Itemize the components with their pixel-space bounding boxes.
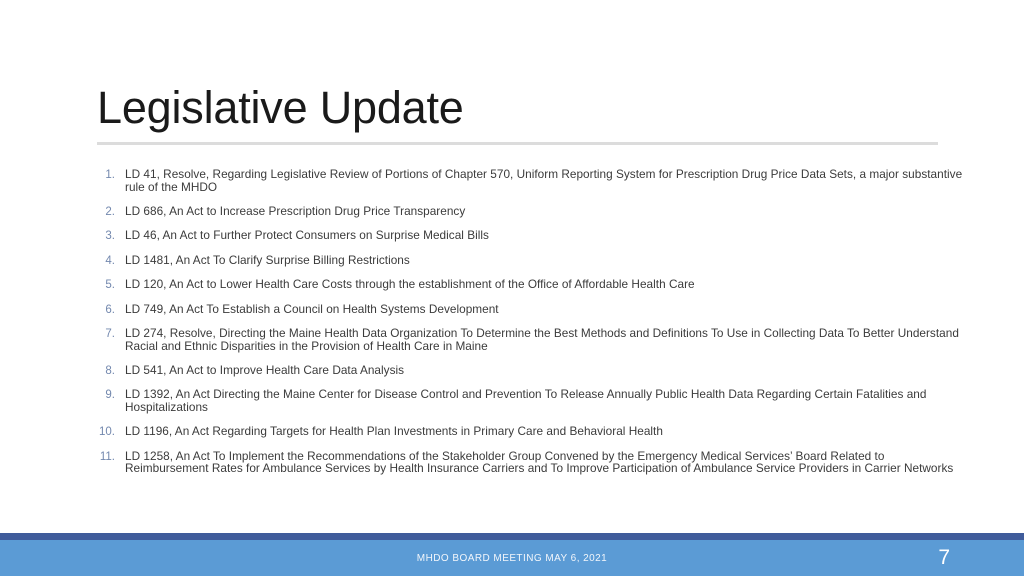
list-item-text: LD 749, An Act To Establish a Council on… (125, 303, 965, 316)
title-divider (97, 142, 938, 145)
list-item: 5. LD 120, An Act to Lower Health Care C… (85, 278, 965, 291)
list-item-text: LD 274, Resolve, Directing the Maine Hea… (125, 327, 965, 352)
list-item-text: LD 120, An Act to Lower Health Care Cost… (125, 278, 965, 291)
list-item-text: LD 1481, An Act To Clarify Surprise Bill… (125, 254, 965, 267)
list-item-number: 2. (85, 205, 115, 218)
list-item-text: LD 1258, An Act To Implement the Recomme… (125, 450, 965, 475)
title-block: Legislative Update (97, 80, 939, 145)
legislation-list: 1. LD 41, Resolve, Regarding Legislative… (85, 168, 965, 486)
list-item-number: 4. (85, 254, 115, 267)
list-item-text: LD 41, Resolve, Regarding Legislative Re… (125, 168, 965, 193)
list-item: 1. LD 41, Resolve, Regarding Legislative… (85, 168, 965, 193)
list-item-number: 1. (85, 168, 115, 181)
list-item-text: LD 46, An Act to Further Protect Consume… (125, 229, 965, 242)
page-title: Legislative Update (97, 80, 939, 136)
slide-footer: MHDO BOARD MEETING MAY 6, 2021 7 (0, 533, 1024, 576)
list-item: 4. LD 1481, An Act To Clarify Surprise B… (85, 254, 965, 267)
list-item: 9. LD 1392, An Act Directing the Maine C… (85, 388, 965, 413)
list-item-number: 11. (85, 450, 115, 463)
list-item: 2. LD 686, An Act to Increase Prescripti… (85, 205, 965, 218)
footer-meeting-label: MHDO BOARD MEETING MAY 6, 2021 (0, 540, 1024, 576)
footer-accent-strip (0, 533, 1024, 540)
list-item: 11. LD 1258, An Act To Implement the Rec… (85, 450, 965, 475)
list-item-text: LD 1392, An Act Directing the Maine Cent… (125, 388, 965, 413)
list-item: 7. LD 274, Resolve, Directing the Maine … (85, 327, 965, 352)
list-item: 10. LD 1196, An Act Regarding Targets fo… (85, 425, 965, 438)
list-item-number: 5. (85, 278, 115, 291)
list-item-number: 6. (85, 303, 115, 316)
page-number: 7 (938, 540, 950, 576)
slide: Legislative Update 1. LD 41, Resolve, Re… (0, 0, 1024, 576)
list-item-number: 3. (85, 229, 115, 242)
list-item-text: LD 541, An Act to Improve Health Care Da… (125, 364, 965, 377)
list-item: 6. LD 749, An Act To Establish a Council… (85, 303, 965, 316)
list-item-number: 8. (85, 364, 115, 377)
list-item-number: 10. (85, 425, 115, 438)
list-item-text: LD 686, An Act to Increase Prescription … (125, 205, 965, 218)
list-item: 8. LD 541, An Act to Improve Health Care… (85, 364, 965, 377)
list-item-text: LD 1196, An Act Regarding Targets for He… (125, 425, 965, 438)
list-item-number: 9. (85, 388, 115, 401)
list-item: 3. LD 46, An Act to Further Protect Cons… (85, 229, 965, 242)
list-item-number: 7. (85, 327, 115, 340)
